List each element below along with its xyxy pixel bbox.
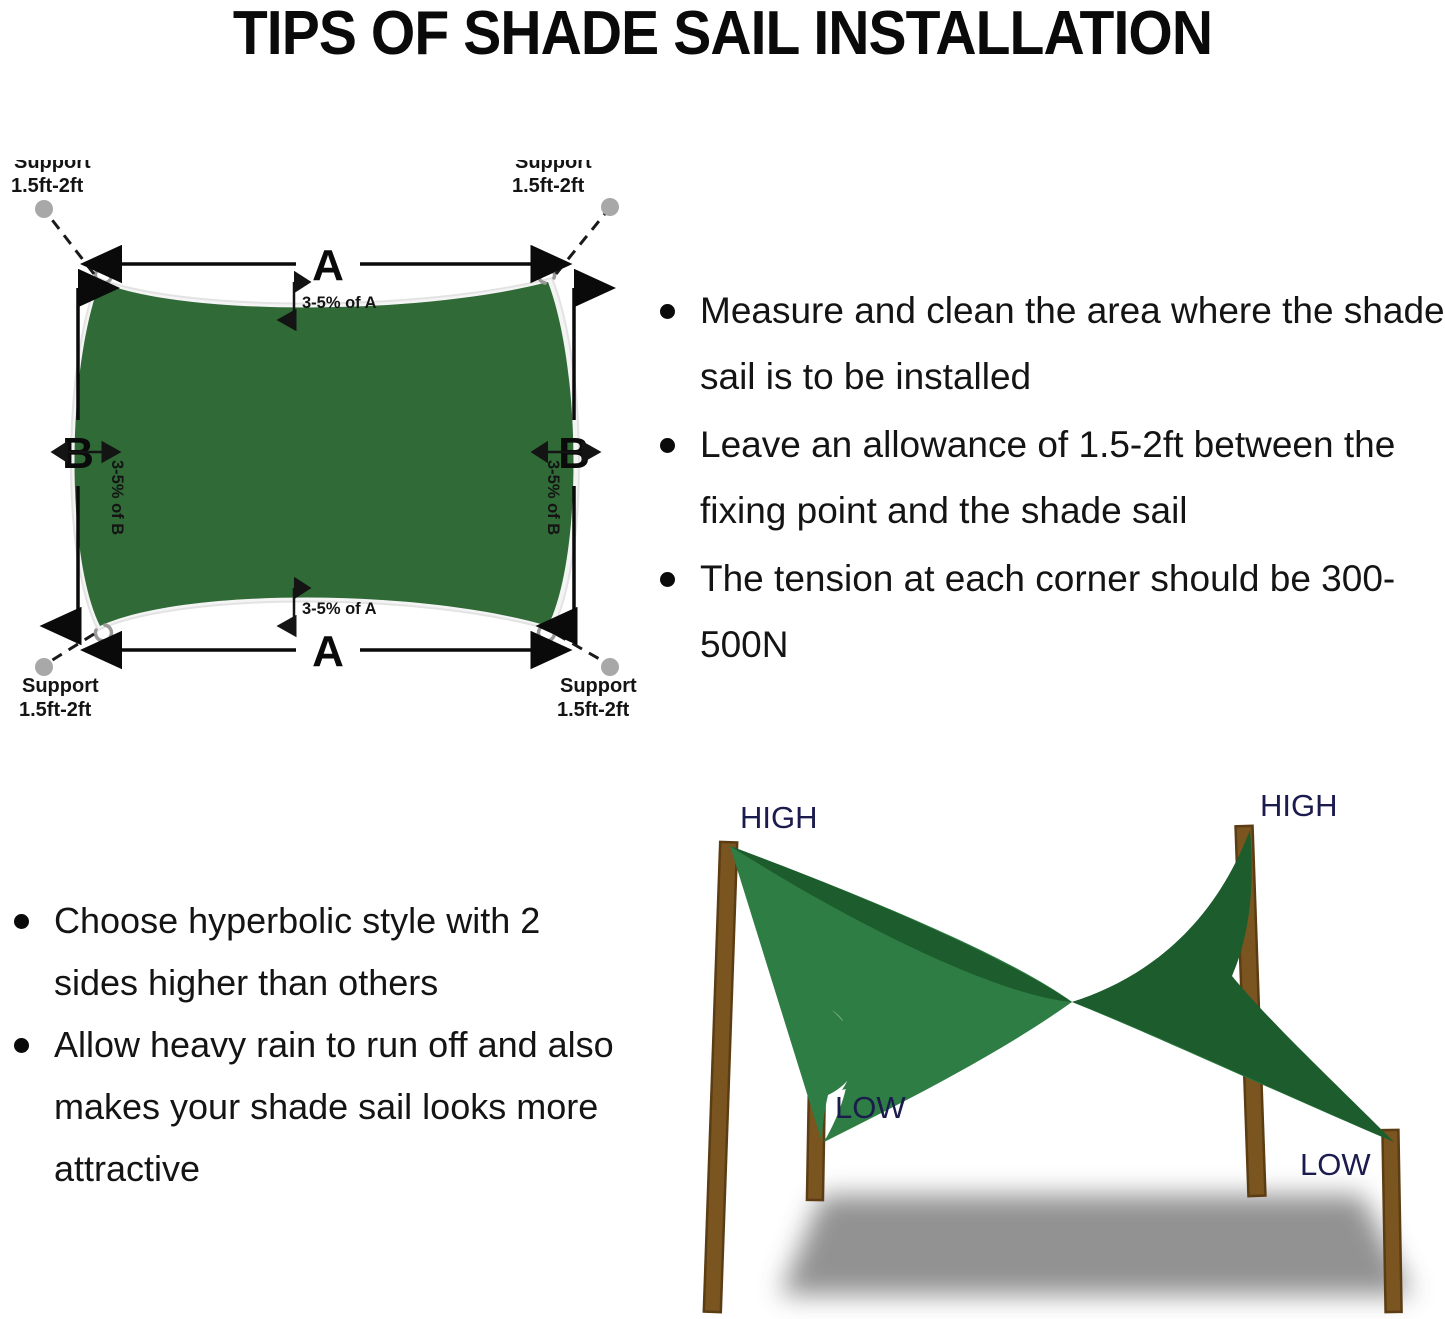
support-dot-bottom-left <box>35 658 53 676</box>
support-label-bottom-right-line2: 1.5ft-2ft <box>557 699 630 720</box>
hyperbolic-sail-diagram: HIGH HIGH LOW LOW <box>672 790 1445 1319</box>
support-label-top-right-line1: Support <box>515 160 592 173</box>
label-high-right: HIGH <box>1260 790 1338 823</box>
curve-label-right: 3-5% of B <box>544 460 562 535</box>
rect-sail-diagram: Support 1.5ft-2ft Support 1.5ft-2ft Supp… <box>0 160 660 720</box>
list-item: Allow heavy rain to run off and also mak… <box>0 1014 620 1200</box>
support-label-bottom-left-line1: Support <box>22 675 99 697</box>
support-label-top-right-line2: 1.5ft-2ft <box>512 175 585 197</box>
list-item: Measure and clean the area where the sha… <box>646 278 1445 410</box>
label-low-right: LOW <box>1300 1147 1371 1182</box>
label-high-left: HIGH <box>740 800 818 835</box>
post-front-right <box>1382 1130 1401 1312</box>
post-back-left <box>704 842 737 1312</box>
list-item: The tension at each corner should be 300… <box>646 546 1445 678</box>
support-label-top-left-line2: 1.5ft-2ft <box>11 175 84 197</box>
dim-label-a-top: A <box>312 241 344 290</box>
support-label-top-left: Support 1.5ft-2ft <box>11 160 91 197</box>
support-label-bottom-left: Support 1.5ft-2ft <box>19 675 99 720</box>
curve-label-top: 3-5% of A <box>302 294 377 312</box>
curve-label-bottom: 3-5% of A <box>302 600 377 618</box>
infographic-page: TIPS OF SHADE SAIL INSTALLATION <box>0 0 1445 1319</box>
installation-tips-list: Measure and clean the area where the sha… <box>646 278 1445 680</box>
list-item: Choose hyperbolic style with 2 sides hig… <box>0 890 620 1014</box>
hyperbolic-style-tips-list: Choose hyperbolic style with 2 sides hig… <box>0 890 620 1200</box>
support-label-bottom-right: Support 1.5ft-2ft <box>557 675 637 720</box>
support-dot-bottom-right <box>601 658 619 676</box>
sail-surface-group <box>730 830 1394 1142</box>
label-low-left: LOW <box>835 1090 906 1125</box>
tie-line-bottom-right <box>556 634 608 664</box>
curve-label-left: 3-5% of B <box>108 460 126 535</box>
dim-label-a-bottom: A <box>312 627 344 676</box>
tie-line-top-right <box>556 210 608 274</box>
dim-label-b-left: B <box>62 429 94 478</box>
support-label-top-left-line1: Support <box>14 160 91 173</box>
support-label-bottom-right-line1: Support <box>560 675 637 697</box>
support-label-top-right: Support 1.5ft-2ft <box>512 160 592 197</box>
support-label-bottom-left-line2: 1.5ft-2ft <box>19 699 92 720</box>
tie-line-bottom-left <box>46 634 94 664</box>
list-item: Leave an allowance of 1.5-2ft between th… <box>646 412 1445 544</box>
sail-body <box>75 282 574 626</box>
support-dot-top-right <box>601 198 619 216</box>
tie-line-top-left <box>46 212 94 274</box>
support-dot-top-left <box>35 200 53 218</box>
ground-shadow <box>780 1195 1412 1295</box>
page-title: TIPS OF SHADE SAIL INSTALLATION <box>58 2 1387 66</box>
